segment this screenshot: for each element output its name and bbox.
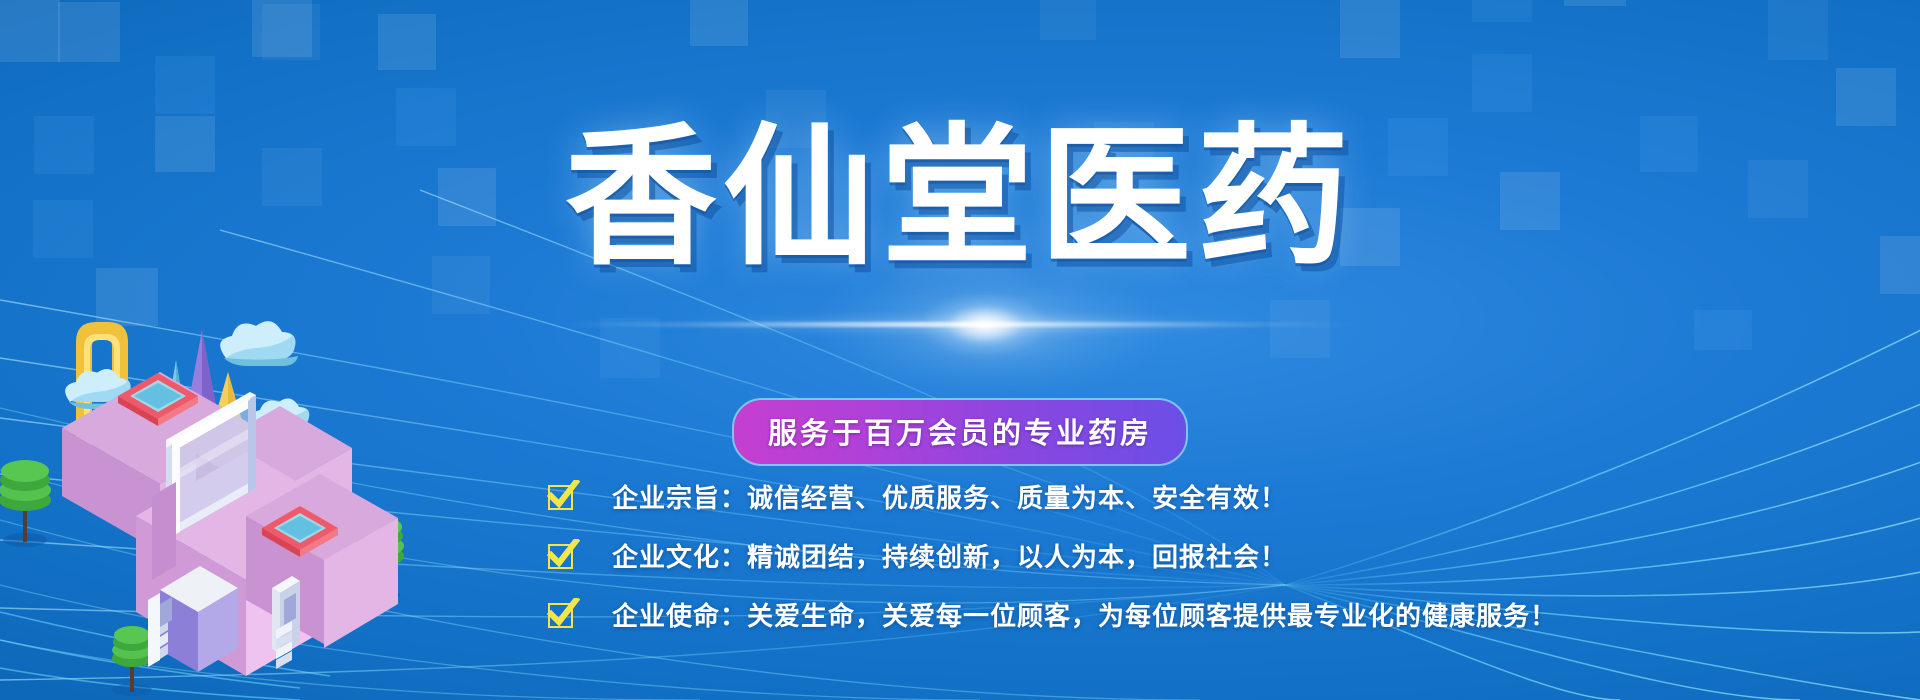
list-item-label: 企业文化：精诚团结，持续创新，以人为本，回报社会！ [612,537,1287,574]
tagline-badge-wrapper: 服务于百万会员的专业药房 [0,398,1920,466]
entrance [272,576,300,669]
tagline-badge: 服务于百万会员的专业药房 [732,398,1188,466]
check-icon [548,601,576,629]
building-wall [152,482,176,580]
tree-icon [112,626,152,692]
check-icon [548,542,576,570]
isometric-city-illustration [0,300,420,700]
list-item: 企业使命：关爱生命，关爱每一位顾客，为每位顾客提供最专业化的健康服务！ [548,596,1557,633]
list-item-label: 企业使命：关爱生命，关爱每一位顾客，为每位顾客提供最专业化的健康服务！ [612,596,1557,633]
list-item: 企业文化：精诚团结，持续创新，以人为本，回报社会！ [548,537,1557,574]
page-title: 香仙堂医药 [0,118,1920,278]
check-icon [548,483,576,511]
cloud-icon [220,321,298,366]
feature-list: 企业宗旨：诚信经营、优质服务、质量为本、安全有效！ 企业文化：精诚团结，持续创新… [548,478,1557,655]
list-item-label: 企业宗旨：诚信经营、优质服务、质量为本、安全有效！ [612,478,1287,515]
list-item: 企业宗旨：诚信经营、优质服务、质量为本、安全有效！ [548,478,1557,515]
tree-icon [0,460,51,542]
promo-banner: 香仙堂医药 服务于百万会员的专业药房 企业宗旨：诚信经营、优质服务、质量为本、安… [0,0,1920,700]
